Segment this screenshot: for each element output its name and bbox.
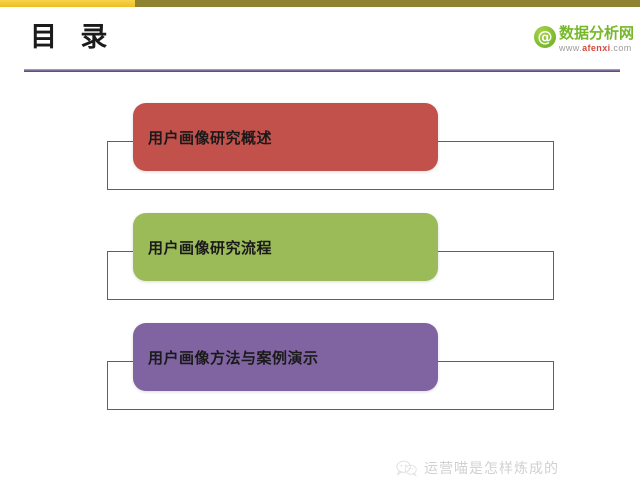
agenda-row: 用户画像研究流程 [0, 205, 640, 315]
brand-url-prefix: www. [559, 43, 582, 53]
at-symbol-glyph: @ [534, 26, 556, 48]
brand-url: www.afenxi.com [559, 43, 634, 54]
top-accent-bar [0, 0, 640, 7]
agenda-row: 用户画像研究概述 [0, 95, 640, 205]
wechat-icon [396, 460, 418, 476]
agenda-item-1[interactable]: 用户画像研究概述 [133, 103, 438, 171]
agenda-item-2[interactable]: 用户画像研究流程 [133, 213, 438, 281]
agenda-row: 用户画像方法与案例演示 [0, 315, 640, 425]
top-accent-bar-left-segment [0, 0, 135, 7]
brand-logo-text: 数据分析网 www.afenxi.com [559, 25, 634, 54]
agenda-item-label: 用户画像研究流程 [133, 237, 272, 258]
agenda-item-label: 用户画像方法与案例演示 [133, 347, 319, 368]
brand-name: 数据分析网 [559, 25, 634, 42]
footer-watermark: 运营喵是怎样炼成的 [396, 458, 559, 478]
top-accent-bar-right-segment [135, 0, 640, 7]
title-divider-rule [24, 69, 620, 72]
footer-text: 运营喵是怎样炼成的 [424, 458, 559, 478]
agenda-item-label: 用户画像研究概述 [133, 127, 272, 148]
at-circle-icon: @ [534, 26, 556, 48]
brand-logo: @ 数据分析网 www.afenxi.com [534, 25, 634, 57]
agenda-item-3[interactable]: 用户画像方法与案例演示 [133, 323, 438, 391]
page-title: 目 录 [30, 24, 114, 51]
slide-header: 目 录 @ 数据分析网 www.afenxi.com [0, 7, 640, 69]
agenda-list: 用户画像研究概述 用户画像研究流程 用户画像方法与案例演示 [0, 95, 640, 425]
brand-url-suffix: .com [611, 43, 632, 53]
brand-url-highlight: afenxi [582, 43, 610, 53]
